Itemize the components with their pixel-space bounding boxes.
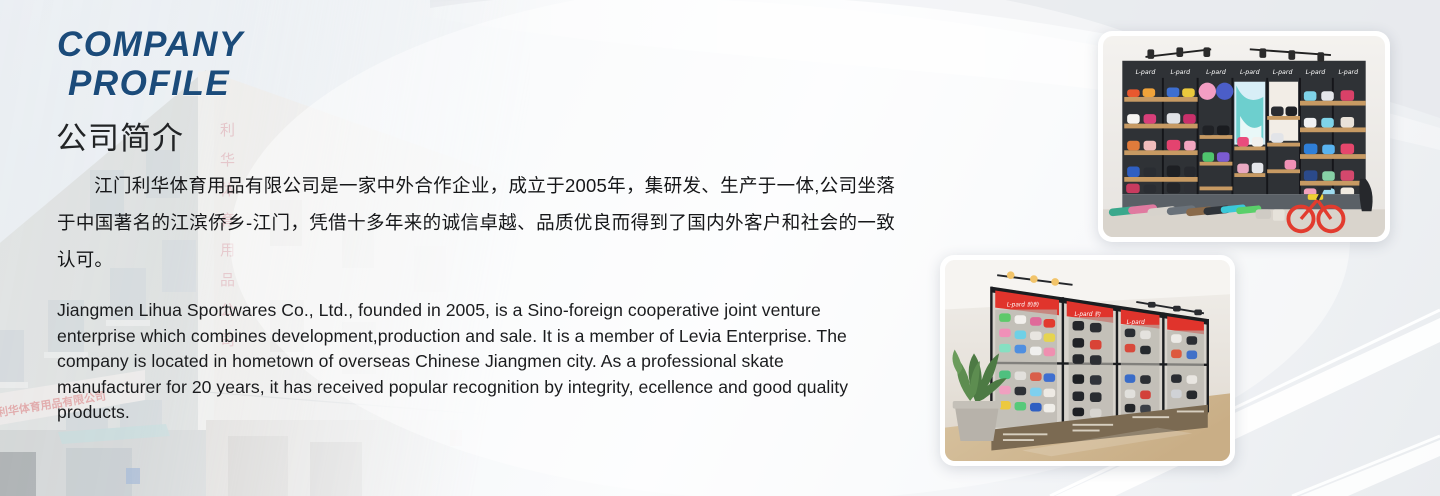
paragraph-chinese-text: 江门利华体育用品有限公司是一家中外合作企业，成立于2005年，集研发、生产于一体… [57, 175, 895, 270]
company-profile-banner: 利华 体育 用品 公司 江门利华体育用品有限公司 [0, 0, 1440, 496]
text-column: COMPANY PROFILE 公司简介 江门利华体育用品有限公司是一家中外合作… [0, 0, 960, 496]
page-title: COMPANY PROFILE [57, 25, 244, 103]
svg-text:L-pard: L-pard [1273, 69, 1293, 76]
photo-showroom-display-wall: L-pard L-pard L-pard L-pard L-pard L-par… [1098, 31, 1390, 242]
svg-text:L-pard 豹豹: L-pard 豹豹 [1007, 302, 1040, 309]
svg-text:L-pard 豹: L-pard 豹 [1074, 311, 1101, 318]
paragraph-chinese: 江门利华体育用品有限公司是一家中外合作企业，成立于2005年，集研发、生产于一体… [57, 167, 895, 278]
page-subtitle-chinese: 公司简介 [56, 113, 184, 158]
photo-showroom-pegboard-wall: L-pard 豹豹 L-pard 豹 L-pard [940, 255, 1235, 466]
paragraph-english: Jiangmen Lihua Sportwares Co., Ltd., fou… [57, 298, 893, 426]
svg-text:L-pard: L-pard [1306, 69, 1326, 76]
svg-text:L-pard: L-pard [1136, 69, 1156, 76]
svg-text:L-pard: L-pard [1170, 69, 1190, 76]
page-title-line2: PROFILE [57, 64, 244, 103]
svg-text:L-pard: L-pard [1338, 69, 1358, 76]
svg-text:L-pard: L-pard [1240, 69, 1260, 76]
page-title-line1: COMPANY [57, 25, 244, 64]
svg-text:L-pard: L-pard [1206, 69, 1226, 76]
